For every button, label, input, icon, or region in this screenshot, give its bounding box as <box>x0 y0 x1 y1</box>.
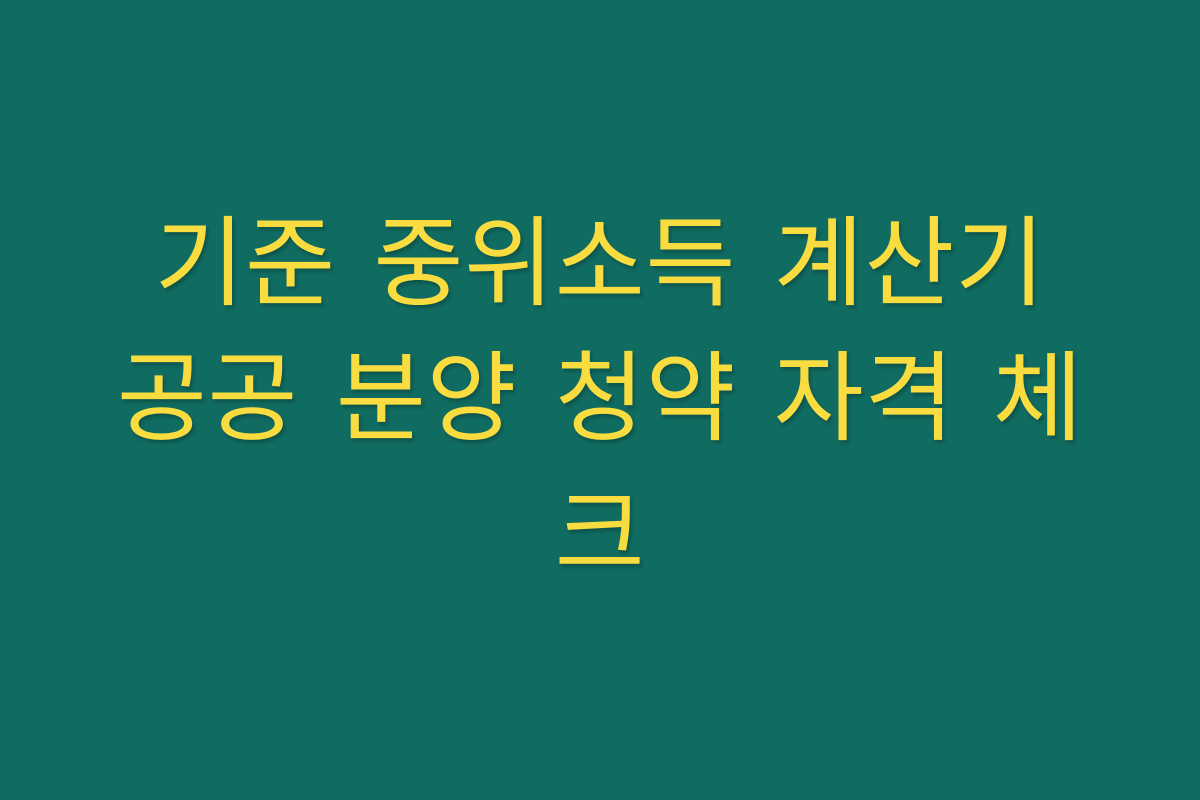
banner-title: 기준 중위소득 계산기 공공 분양 청약 자격 체크 <box>100 197 1100 603</box>
thumbnail-banner: 기준 중위소득 계산기 공공 분양 청약 자격 체크 <box>0 0 1200 800</box>
title-block: 기준 중위소득 계산기 공공 분양 청약 자격 체크 <box>100 197 1100 603</box>
